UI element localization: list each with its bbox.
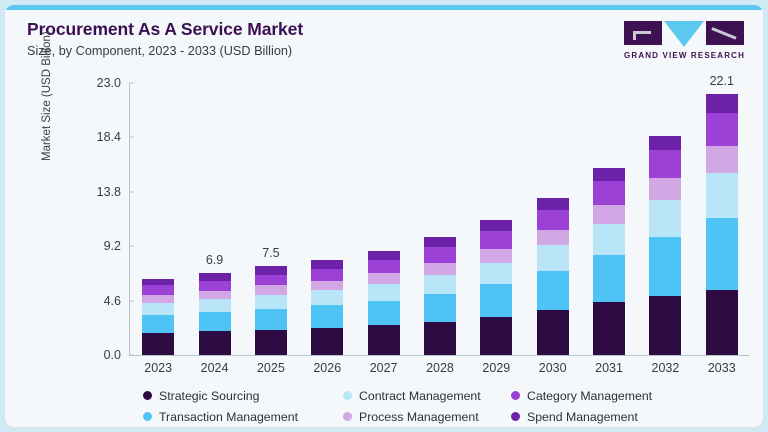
legend-label: Category Management <box>527 389 652 403</box>
bar-segment[interactable] <box>142 303 174 315</box>
legend-swatch-icon <box>343 391 352 400</box>
bar-segment[interactable] <box>255 266 287 274</box>
bar-segment[interactable] <box>537 310 569 355</box>
bar-segment[interactable] <box>255 330 287 355</box>
bar-segment[interactable] <box>706 173 738 218</box>
legend-label: Strategic Sourcing <box>159 389 259 403</box>
legend-item[interactable]: Spend Management <box>511 410 743 424</box>
legend-item[interactable]: Contract Management <box>343 389 511 403</box>
logo-triangle-icon <box>664 21 704 47</box>
x-tick-label: 2030 <box>525 361 581 375</box>
bar-segment[interactable] <box>424 322 456 355</box>
stacked-bar[interactable]: 6.9 <box>199 273 231 355</box>
bar-column[interactable] <box>637 71 693 355</box>
bar-segment[interactable] <box>706 146 738 173</box>
bar-segment[interactable] <box>311 281 343 290</box>
bar-segment[interactable] <box>142 315 174 333</box>
bar-segment[interactable] <box>593 255 625 302</box>
x-axis-ticks: 2023202420252026202720282029203020312032… <box>130 361 750 375</box>
bar-segment[interactable] <box>706 290 738 355</box>
y-tick-label: 4.6 <box>104 294 121 308</box>
legend-item[interactable]: Transaction Management <box>143 410 343 424</box>
bar-segment[interactable] <box>706 218 738 290</box>
bar-segment[interactable] <box>368 325 400 355</box>
bar-segment[interactable] <box>255 295 287 309</box>
bar-segment[interactable] <box>706 94 738 113</box>
bar-segment[interactable] <box>480 317 512 355</box>
bar-column[interactable] <box>130 71 186 355</box>
bar-segment[interactable] <box>593 168 625 181</box>
bar-column[interactable] <box>412 71 468 355</box>
bar-segment[interactable] <box>424 237 456 248</box>
bar-column[interactable]: 6.9 <box>187 71 243 355</box>
legend-label: Process Management <box>359 410 479 424</box>
bar-segment[interactable] <box>593 302 625 355</box>
bar-segment[interactable] <box>311 290 343 305</box>
legend-label: Spend Management <box>527 410 638 424</box>
bar-segment[interactable] <box>311 260 343 268</box>
bar-segment[interactable] <box>649 136 681 150</box>
bar-segment[interactable] <box>593 181 625 205</box>
bar-group: 6.97.522.1 <box>130 71 750 355</box>
bar-segment[interactable] <box>255 309 287 330</box>
x-tick-label: 2029 <box>468 361 524 375</box>
bar-segment[interactable] <box>649 237 681 296</box>
bar-segment[interactable] <box>649 200 681 237</box>
bar-value-label: 6.9 <box>199 253 231 267</box>
legend-swatch-icon <box>143 412 152 421</box>
x-axis-line <box>129 355 749 356</box>
bar-segment[interactable] <box>649 296 681 355</box>
bar-segment[interactable] <box>649 150 681 177</box>
y-tick-label: 23.0 <box>97 76 121 90</box>
y-tick-label: 18.4 <box>97 130 121 144</box>
accent-topbar <box>5 5 763 10</box>
bar-segment[interactable] <box>593 205 625 224</box>
bar-value-label: 7.5 <box>255 246 287 260</box>
bar-segment[interactable] <box>480 249 512 263</box>
logo-wordmark: GRAND VIEW RESEARCH <box>624 51 745 60</box>
x-tick-label: 2027 <box>356 361 412 375</box>
bar-segment[interactable] <box>480 263 512 284</box>
bar-column[interactable] <box>581 71 637 355</box>
bar-segment[interactable] <box>199 312 231 331</box>
bar-segment[interactable] <box>255 275 287 286</box>
legend-label: Contract Management <box>359 389 481 403</box>
bar-segment[interactable] <box>480 220 512 231</box>
bar-segment[interactable] <box>368 284 400 301</box>
y-tick-label: 13.8 <box>97 185 121 199</box>
x-tick-label: 2033 <box>694 361 750 375</box>
chart-legend: Strategic SourcingContract ManagementCat… <box>143 385 743 427</box>
x-tick-label: 2032 <box>637 361 693 375</box>
logo-left-box-icon <box>624 21 662 45</box>
legend-item[interactable]: Strategic Sourcing <box>143 389 343 403</box>
chart-card: Procurement As A Service Market Size, by… <box>4 4 764 428</box>
bar-segment[interactable] <box>368 260 400 273</box>
bar-column[interactable] <box>468 71 524 355</box>
stacked-bar[interactable] <box>368 251 400 355</box>
bar-segment[interactable] <box>424 294 456 322</box>
bar-segment[interactable] <box>142 285 174 294</box>
legend-label: Transaction Management <box>159 410 298 424</box>
bar-segment[interactable] <box>199 299 231 312</box>
bar-segment[interactable] <box>368 301 400 326</box>
stacked-bar[interactable] <box>593 168 625 355</box>
brand-logo: GRAND VIEW RESEARCH <box>624 21 745 60</box>
bar-segment[interactable] <box>537 210 569 230</box>
stacked-bar[interactable] <box>424 237 456 355</box>
legend-item[interactable]: Category Management <box>511 389 743 403</box>
bar-segment[interactable] <box>706 113 738 146</box>
bar-segment[interactable] <box>199 273 231 280</box>
x-tick-label: 2028 <box>412 361 468 375</box>
stacked-bar[interactable] <box>142 279 174 355</box>
stacked-bar[interactable] <box>537 198 569 355</box>
bar-segment[interactable] <box>199 281 231 292</box>
x-tick-label: 2023 <box>130 361 186 375</box>
bar-segment[interactable] <box>311 328 343 355</box>
bar-column[interactable] <box>356 71 412 355</box>
stacked-bar[interactable] <box>649 136 681 355</box>
stacked-bar[interactable] <box>311 260 343 355</box>
y-tick-label: 9.2 <box>104 239 121 253</box>
bar-segment[interactable] <box>537 230 569 245</box>
bar-value-label: 22.1 <box>706 74 738 88</box>
bar-segment[interactable] <box>311 305 343 327</box>
legend-swatch-icon <box>143 391 152 400</box>
bar-segment[interactable] <box>199 291 231 299</box>
bar-segment[interactable] <box>199 331 231 355</box>
bar-segment[interactable] <box>311 269 343 281</box>
bar-segment[interactable] <box>593 224 625 255</box>
y-axis-label: Market Size (USD Billion) <box>41 31 53 161</box>
plot-area: Market Size (USD Billion) 0.04.69.213.81… <box>5 71 764 361</box>
stacked-bar[interactable]: 7.5 <box>255 266 287 355</box>
bar-segment[interactable] <box>480 231 512 249</box>
logo-right-box-icon <box>706 21 744 45</box>
bar-segment[interactable] <box>255 285 287 294</box>
y-tick-label: 0.0 <box>104 348 121 362</box>
stacked-bar[interactable]: 22.1 <box>706 94 738 355</box>
logo-marks <box>624 21 745 47</box>
bar-segment[interactable] <box>649 178 681 200</box>
stacked-bar[interactable] <box>480 220 512 355</box>
x-tick-label: 2026 <box>299 361 355 375</box>
x-tick-label: 2031 <box>581 361 637 375</box>
bar-segment[interactable] <box>368 273 400 284</box>
bar-segment[interactable] <box>142 333 174 355</box>
legend-swatch-icon <box>511 391 520 400</box>
legend-item[interactable]: Process Management <box>343 410 511 424</box>
bar-column[interactable]: 22.1 <box>694 71 750 355</box>
chart-header: Procurement As A Service Market Size, by… <box>27 19 303 58</box>
bar-segment[interactable] <box>424 247 456 262</box>
chart-subtitle: Size, by Component, 2023 - 2033 (USD Bil… <box>27 44 303 58</box>
bar-segment[interactable] <box>537 198 569 210</box>
bar-segment[interactable] <box>424 275 456 294</box>
x-tick-label: 2024 <box>187 361 243 375</box>
bar-segment[interactable] <box>424 263 456 275</box>
bar-column[interactable] <box>299 71 355 355</box>
y-axis-ticks: 0.04.69.213.818.423.0 <box>67 71 129 361</box>
legend-swatch-icon <box>343 412 352 421</box>
bar-segment[interactable] <box>480 284 512 317</box>
bar-segment[interactable] <box>142 295 174 303</box>
bar-column[interactable]: 7.5 <box>243 71 299 355</box>
chart-title: Procurement As A Service Market <box>27 19 303 40</box>
bar-column[interactable] <box>525 71 581 355</box>
legend-swatch-icon <box>511 412 520 421</box>
bar-segment[interactable] <box>537 271 569 310</box>
bar-segment[interactable] <box>537 245 569 271</box>
x-tick-label: 2025 <box>243 361 299 375</box>
bar-segment[interactable] <box>368 251 400 260</box>
